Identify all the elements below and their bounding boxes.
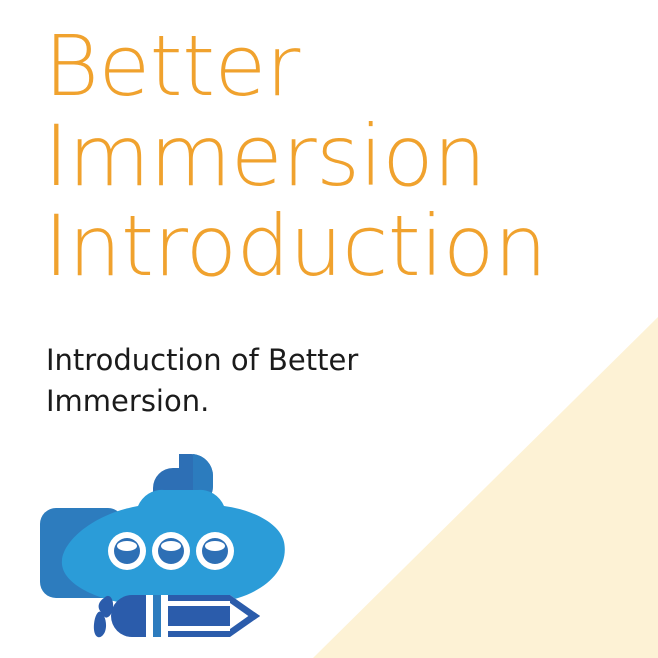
pencil-stripe-top [168, 601, 230, 606]
page-subtitle: Introduction of Better Immersion. [46, 340, 436, 422]
slide-canvas: Better Immersion Introduction Introducti… [0, 0, 658, 658]
porthole-1 [108, 532, 146, 570]
pencil-band-white-2 [161, 595, 168, 637]
porthole-3 [196, 532, 234, 570]
pencil-propeller-shape [94, 596, 113, 637]
pencil-tip-point [254, 612, 260, 620]
pencil-stripe-bottom [168, 626, 230, 631]
pencil-band-white-1 [146, 595, 153, 637]
pencil-band-blue [153, 595, 161, 637]
porthole-2 [152, 532, 190, 570]
submarine-pencil-icon [28, 446, 290, 646]
page-title: Better Immersion Introduction [44, 22, 644, 292]
